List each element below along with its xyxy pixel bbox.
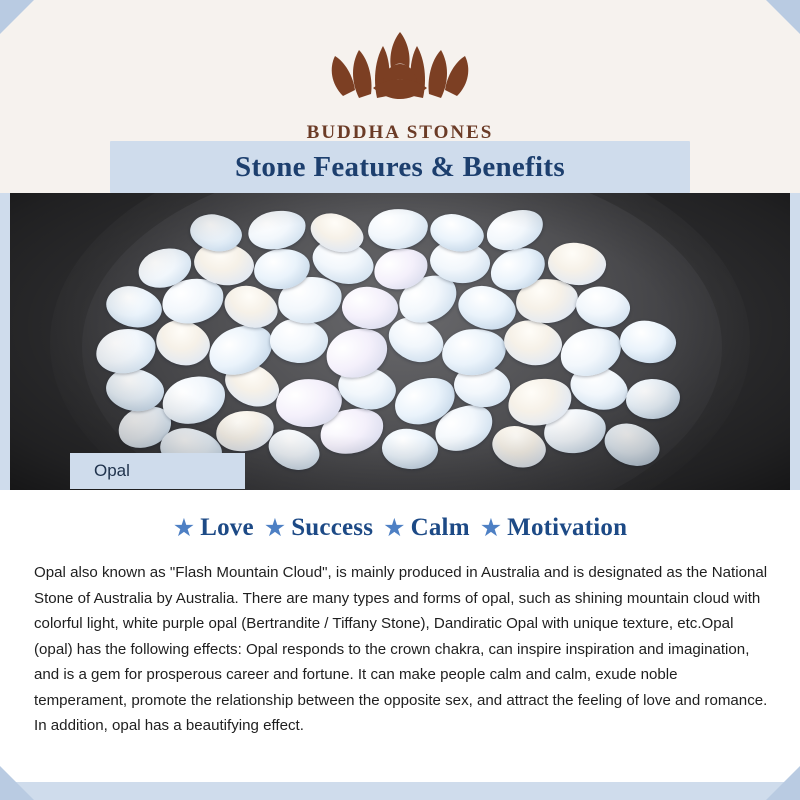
product-photo xyxy=(10,193,790,490)
photo-rail-right xyxy=(790,193,800,490)
description-paragraph: Opal also known as "Flash Mountain Cloud… xyxy=(34,560,770,739)
stone-name-label: Opal xyxy=(94,461,130,481)
benefit-item-love: ★ Love xyxy=(173,514,254,542)
benefit-label: Success xyxy=(291,514,373,542)
benefit-label: Calm xyxy=(411,514,470,542)
brand-logo-block: BUDDHA STONES xyxy=(0,22,800,144)
photo-rail-left xyxy=(0,193,10,490)
page-title: Stone Features & Benefits xyxy=(235,151,565,184)
stone-name-chip: Opal xyxy=(70,453,245,489)
corner-decoration-bottom-left xyxy=(0,766,34,800)
lotus-meditation-icon xyxy=(325,22,475,118)
star-icon: ★ xyxy=(383,516,405,541)
star-icon: ★ xyxy=(264,516,286,541)
bottom-accent-bar xyxy=(0,782,800,800)
benefit-item-success: ★ Success xyxy=(264,514,373,542)
star-icon: ★ xyxy=(480,516,502,541)
stone-pile xyxy=(10,193,790,490)
benefit-item-motivation: ★ Motivation xyxy=(480,514,627,542)
section-title-band: Stone Features & Benefits xyxy=(110,141,690,193)
benefit-label: Motivation xyxy=(507,514,627,542)
benefit-label: Love xyxy=(200,514,254,542)
star-icon: ★ xyxy=(173,516,195,541)
corner-decoration-bottom-right xyxy=(766,766,800,800)
benefit-item-calm: ★ Calm xyxy=(383,514,470,542)
poster-root: BUDDHA STONES Stone Features & Benefits xyxy=(0,0,800,800)
benefits-row: ★ Love ★ Success ★ Calm ★ Motivation xyxy=(0,514,800,542)
